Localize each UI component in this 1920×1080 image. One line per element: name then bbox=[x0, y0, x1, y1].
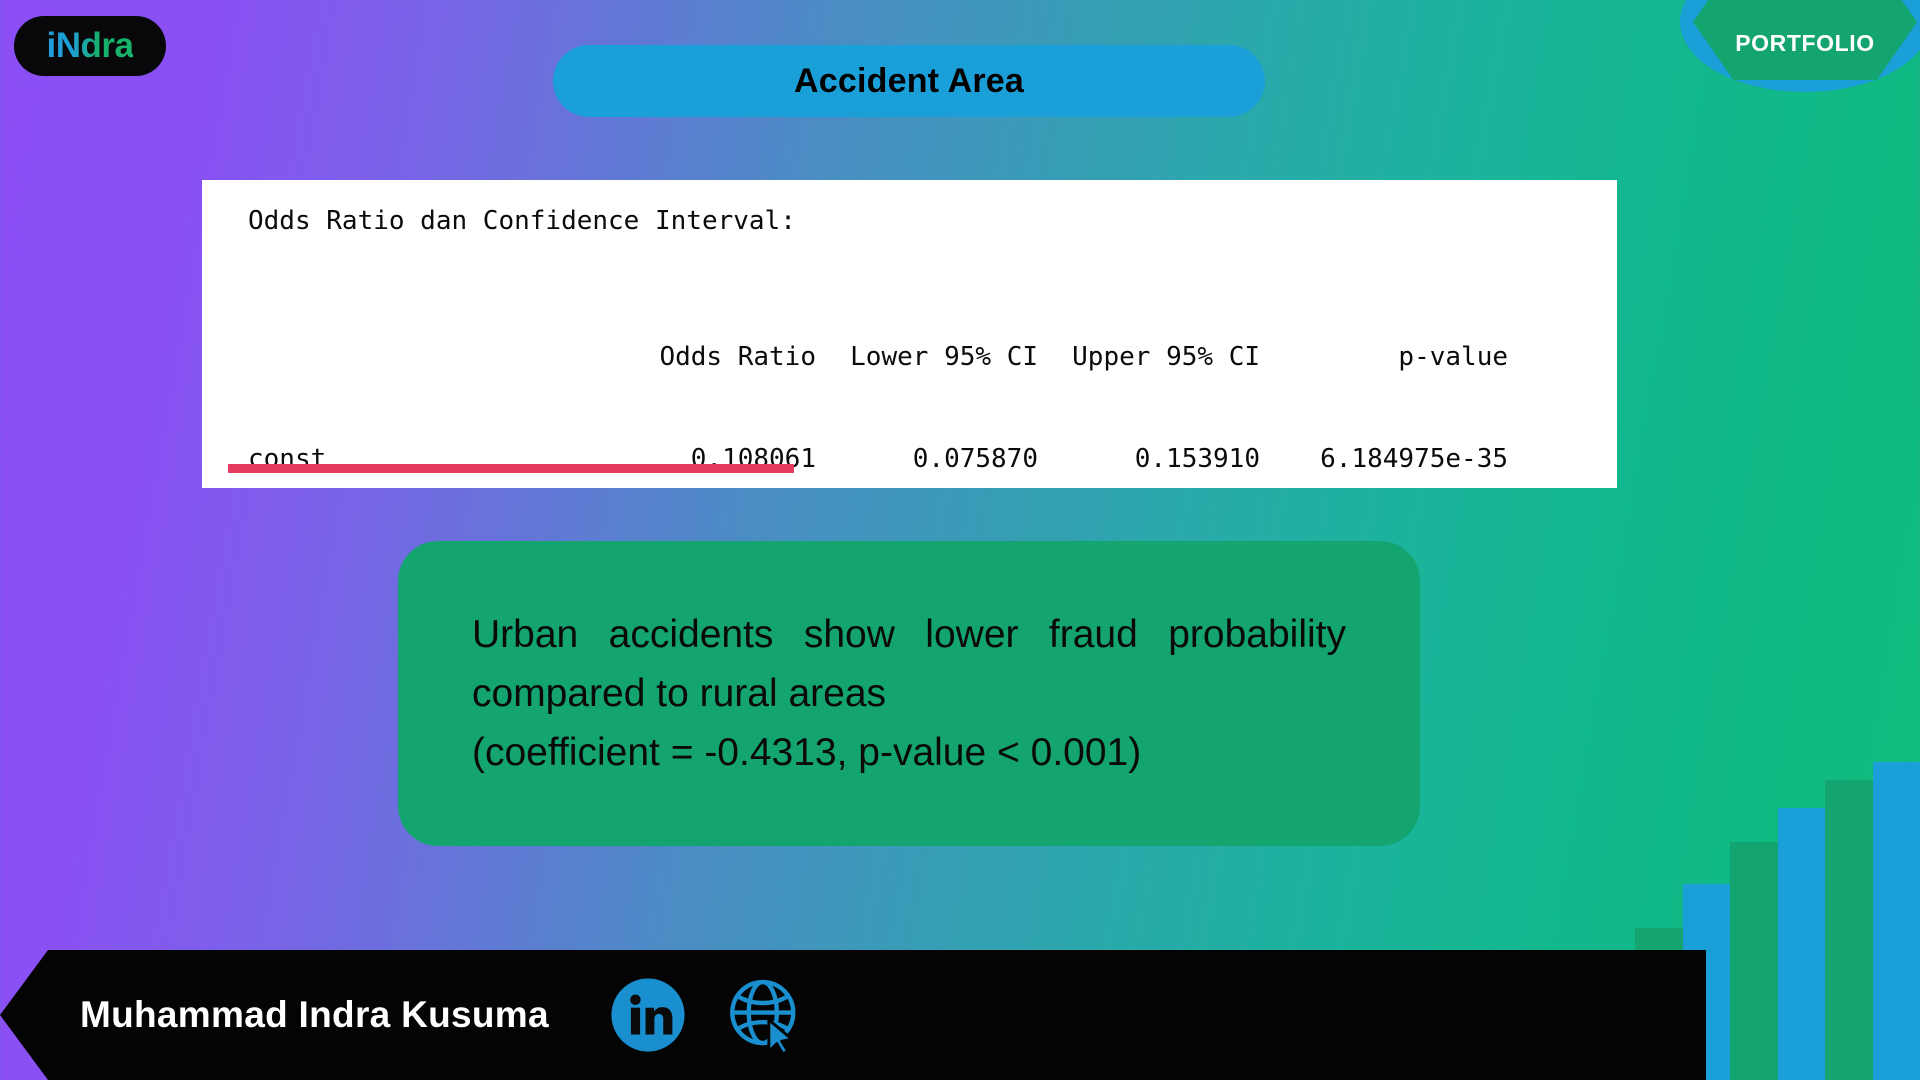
column-header-name bbox=[248, 340, 594, 374]
page-title-text: Accident Area bbox=[794, 62, 1024, 101]
brand-logo: iNdra bbox=[14, 16, 166, 76]
table-header-row: Odds Ratio Lower 95% CI Upper 95% CI p-v… bbox=[248, 340, 1617, 374]
author-name: Muhammad Indra Kusuma bbox=[80, 994, 549, 1036]
insight-text-main: Urban accidents show lower fraud probabi… bbox=[472, 613, 1346, 715]
cell-upper-ci: 0.153910 bbox=[1038, 442, 1260, 476]
portfolio-badge-octagon: PORTFOLIO bbox=[1693, 0, 1917, 80]
decorative-bar bbox=[1825, 780, 1873, 1080]
column-header-odds-ratio: Odds Ratio bbox=[594, 340, 816, 374]
insight-text: Urban accidents show lower fraud probabi… bbox=[398, 605, 1420, 782]
decorative-bar bbox=[1730, 842, 1778, 1080]
decorative-bar bbox=[1873, 762, 1920, 1080]
column-header-lower-ci: Lower 95% CI bbox=[816, 340, 1038, 374]
column-header-upper-ci: Upper 95% CI bbox=[1038, 340, 1260, 374]
highlight-underline bbox=[228, 464, 794, 473]
odds-ratio-table: Odds Ratio Lower 95% CI Upper 95% CI p-v… bbox=[202, 272, 1617, 488]
results-panel: Odds Ratio dan Confidence Interval: Odds… bbox=[202, 180, 1617, 488]
decorative-bar bbox=[1778, 808, 1826, 1080]
website-globe-icon[interactable] bbox=[725, 976, 803, 1054]
insight-callout: Urban accidents show lower fraud probabi… bbox=[398, 541, 1420, 846]
panel-heading: Odds Ratio dan Confidence Interval: bbox=[202, 204, 1617, 238]
portfolio-badge: PORTFOLIO bbox=[1680, 0, 1920, 92]
brand-logo-text: iNdra bbox=[47, 26, 134, 66]
footer-bar: Muhammad Indra Kusuma bbox=[0, 950, 1706, 1080]
insight-text-stats: (coefficient = -0.4313, p-value < 0.001) bbox=[472, 723, 1346, 782]
portfolio-badge-label: PORTFOLIO bbox=[1735, 30, 1875, 57]
social-links bbox=[609, 976, 803, 1054]
page-title: Accident Area bbox=[553, 45, 1265, 117]
linkedin-icon[interactable] bbox=[609, 976, 687, 1054]
cell-lower-ci: 0.075870 bbox=[816, 442, 1038, 476]
cell-p-value: 6.184975e-35 bbox=[1260, 442, 1508, 476]
column-header-p-value: p-value bbox=[1260, 340, 1508, 374]
